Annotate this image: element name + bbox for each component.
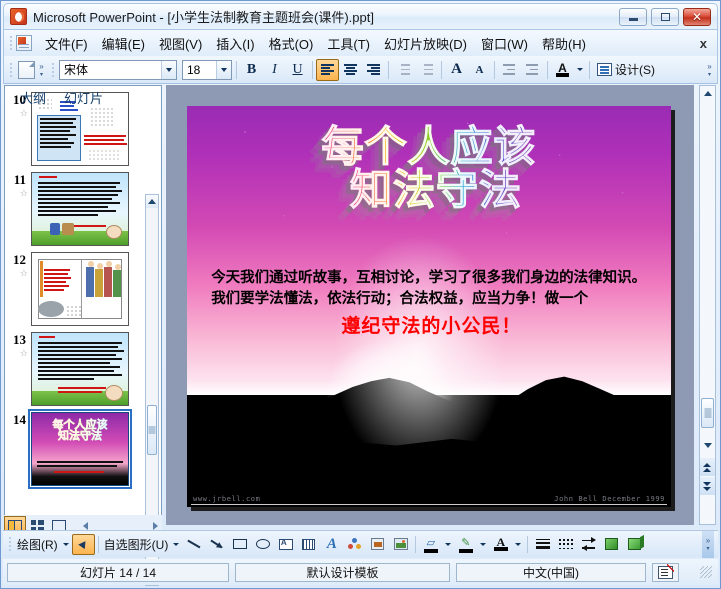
dash-style-button[interactable] xyxy=(554,534,577,555)
align-left-icon xyxy=(321,64,334,75)
restore-button[interactable] xyxy=(651,8,679,26)
restore-icon xyxy=(661,13,670,21)
chevron-up-icon xyxy=(148,199,156,204)
slide-thumbnail-list[interactable]: 10 ☆ 11 ☆ xyxy=(5,86,145,504)
diagram-button[interactable] xyxy=(343,534,366,555)
menu-grip-handle[interactable] xyxy=(9,35,13,51)
design-icon xyxy=(597,63,612,76)
close-document-button[interactable]: x xyxy=(700,36,707,51)
menu-item-window[interactable]: 窗口(W) xyxy=(474,31,535,56)
align-center-button[interactable] xyxy=(339,59,362,81)
window-resize-grip[interactable] xyxy=(700,566,712,578)
arrow-style-button[interactable] xyxy=(577,534,600,555)
bulleted-list-icon xyxy=(420,64,433,75)
vertical-text-box-icon xyxy=(302,539,315,550)
insert-picture-button[interactable] xyxy=(389,534,412,555)
font-size-combo[interactable]: 18 xyxy=(182,60,232,80)
font-color-icon: A xyxy=(556,63,569,77)
tab-slides-label: 幻灯片 xyxy=(64,88,103,107)
decrease-font-size-button[interactable]: A xyxy=(468,59,491,81)
window-title: Microsoft PowerPoint - [小学生法制教育主题班会(课件).… xyxy=(33,7,374,26)
dash-style-icon xyxy=(559,539,573,549)
slide-canvas[interactable]: 每个人应该 知法守法 今天我们通过听故事，互相讨论，学习了很多我们身边的法律知识… xyxy=(187,106,671,507)
line-icon xyxy=(187,540,200,548)
shadow-style-button[interactable] xyxy=(600,534,623,555)
font-name-value: 宋体 xyxy=(60,61,92,78)
fill-color-arrow[interactable] xyxy=(442,534,454,555)
slide-number: 12 xyxy=(9,252,31,268)
line-tool-button[interactable] xyxy=(182,534,205,555)
close-button[interactable]: ✕ xyxy=(683,8,711,26)
scroll-up-button[interactable] xyxy=(146,195,158,208)
underline-icon: U xyxy=(292,62,302,78)
shadow-style-icon xyxy=(605,538,618,550)
menu-item-edit[interactable]: 编辑(E) xyxy=(95,31,152,56)
toolbar-grip-handle-1[interactable] xyxy=(9,62,13,78)
slide-number: 13 xyxy=(9,332,31,348)
italic-icon: I xyxy=(272,62,277,78)
font-size-value: 18 xyxy=(183,63,204,77)
arrow-tool-button[interactable] xyxy=(205,534,228,555)
insert-picture-icon xyxy=(394,538,408,550)
line-style-icon xyxy=(536,539,550,549)
align-center-icon xyxy=(344,64,357,75)
list-item[interactable]: 13 ☆ xyxy=(5,326,145,406)
menu-item-file[interactable]: 文件(F) xyxy=(38,31,95,56)
increase-font-size-button[interactable]: A xyxy=(445,59,468,81)
arrow-icon xyxy=(211,540,223,548)
line-color-arrow[interactable] xyxy=(477,534,489,555)
double-chevron-down-icon xyxy=(703,482,712,491)
decrease-indent-button[interactable] xyxy=(498,59,521,81)
font-color-icon: A xyxy=(494,537,508,551)
italic-button[interactable]: I xyxy=(263,59,286,81)
powerpoint-window: Microsoft PowerPoint - [小学生法制教育主题班会(课件).… xyxy=(0,0,721,589)
scrollbar-thumb-main[interactable] xyxy=(701,398,714,428)
slide-animation-star: ☆ xyxy=(9,188,31,199)
list-item[interactable]: 11 ☆ xyxy=(5,166,145,246)
fill-color-icon: ▱ xyxy=(424,536,438,553)
watermark-right: John Bell December 1999 xyxy=(554,495,665,503)
document-icon xyxy=(16,35,32,51)
rectangle-tool-button[interactable] xyxy=(228,534,251,555)
toolbar-overflow-chevron-1[interactable]: »▾ xyxy=(37,61,46,79)
increase-indent-icon xyxy=(526,64,539,75)
window-controls: ✕ xyxy=(619,8,711,26)
design-button[interactable]: 设计(S) xyxy=(593,59,659,80)
tab-outline-label: 大纲 xyxy=(20,88,46,107)
clip-art-icon xyxy=(371,538,384,550)
align-right-button[interactable] xyxy=(362,59,385,81)
language-field[interactable]: 中文(中国) xyxy=(456,563,646,582)
powerpoint-icon[interactable] xyxy=(10,8,27,25)
slide-number: 11 xyxy=(9,172,31,188)
rectangle-icon xyxy=(233,539,247,549)
slide-number: 14 xyxy=(9,412,31,428)
bulleted-list-button[interactable] xyxy=(415,59,438,81)
line-color-button[interactable]: ✎ xyxy=(454,534,477,555)
increase-font-size-icon: A xyxy=(451,61,462,78)
new-document-icon[interactable] xyxy=(18,61,35,79)
menu-item-help[interactable]: 帮助(H) xyxy=(535,31,593,56)
menu-item-tools[interactable]: 工具(T) xyxy=(320,31,377,56)
font-name-dropdown-arrow[interactable] xyxy=(161,61,176,79)
chevron-up-icon xyxy=(704,91,712,96)
spell-check-icon xyxy=(658,566,673,579)
double-chevron-up-icon xyxy=(703,463,712,472)
close-icon: ✕ xyxy=(692,11,702,23)
title-bar: Microsoft PowerPoint - [小学生法制教育主题班会(课件).… xyxy=(3,3,718,30)
numbered-list-button[interactable] xyxy=(392,59,415,81)
slide-animation-star: ☆ xyxy=(9,268,31,279)
3d-style-button[interactable] xyxy=(623,534,646,555)
vertical-text-box-button[interactable] xyxy=(297,534,320,555)
bold-button[interactable]: B xyxy=(240,59,263,81)
autoshapes-menu-button[interactable]: 自选图形(U) xyxy=(102,536,171,553)
slide-animation-star: ☆ xyxy=(9,108,31,119)
slides-pane: 10 ☆ 11 ☆ xyxy=(4,85,162,527)
font-size-dropdown-arrow[interactable] xyxy=(216,61,231,79)
drawing-toolbar: 绘图(R) 自选图形(U) A ▱ ✎ xyxy=(3,530,718,557)
slide-vertical-scrollbar[interactable] xyxy=(699,85,716,525)
drawing-toolbar-grip[interactable] xyxy=(8,536,12,552)
align-left-button[interactable] xyxy=(316,59,339,81)
chevron-down-icon xyxy=(704,443,712,448)
design-template-field[interactable]: 默认设计模板 xyxy=(235,563,450,582)
font-color-arrow[interactable] xyxy=(512,534,524,555)
body-highlight-line: 遵纪守法的小公民！ xyxy=(211,313,651,340)
line-color-icon: ✎ xyxy=(459,536,473,553)
menu-item-slideshow[interactable]: 幻灯片放映(D) xyxy=(377,31,474,56)
font-color-dropdown-arrow[interactable] xyxy=(574,59,586,81)
slide-body-textbox[interactable]: 今天我们通过听故事，互相讨论，学习了很多我们身边的法律知识。我们要学法懂法，依法… xyxy=(211,268,651,339)
decrease-font-size-icon: A xyxy=(476,64,484,76)
list-item[interactable]: 14 每个人应该知法守法 xyxy=(5,406,145,486)
status-bar: 幻灯片 14 / 14 默认设计模板 中文(中国) xyxy=(3,559,718,585)
foreground-ridge xyxy=(187,419,671,507)
numbered-list-icon xyxy=(397,64,410,75)
drawing-toolbar-overflow[interactable]: »▾ xyxy=(702,531,714,558)
scrollbar-thumb[interactable] xyxy=(147,405,157,455)
slide-thumbnail[interactable] xyxy=(31,172,129,246)
select-arrow-icon xyxy=(78,539,89,549)
toolbar-overflow-chevron-2[interactable]: »▾ xyxy=(705,61,714,79)
menu-item-view[interactable]: 视图(V) xyxy=(152,31,209,56)
slide-counter-field: 幻灯片 14 / 14 xyxy=(7,563,229,582)
fill-color-button[interactable]: ▱ xyxy=(419,534,442,555)
design-button-label: 设计(S) xyxy=(615,61,655,78)
autoshapes-menu-arrow[interactable] xyxy=(170,534,182,555)
menu-bar: 文件(F) 编辑(E) 视图(V) 插入(I) 格式(O) 工具(T) 幻灯片放… xyxy=(3,30,718,56)
previous-slide-button[interactable] xyxy=(700,458,715,476)
draw-menu-arrow[interactable] xyxy=(60,534,72,555)
slide-animation-star: ☆ xyxy=(9,348,31,359)
decrease-indent-icon xyxy=(503,64,516,75)
minimize-icon xyxy=(629,18,638,21)
select-objects-button[interactable] xyxy=(72,534,95,555)
minimize-button[interactable] xyxy=(619,8,647,26)
slide-workspace[interactable]: 每个人应该 知法守法 今天我们通过听故事，互相讨论，学习了很多我们身边的法律知识… xyxy=(166,85,694,525)
menu-item-insert[interactable]: 插入(I) xyxy=(209,31,261,56)
menu-item-format[interactable]: 格式(O) xyxy=(262,31,321,56)
clip-art-button[interactable] xyxy=(366,534,389,555)
text-box-button[interactable] xyxy=(274,534,297,555)
scroll-up-button-main[interactable] xyxy=(700,86,715,101)
formatting-toolbar: »▾ 宋体 18 B I U A A xyxy=(3,56,718,84)
font-name-combo[interactable]: 宋体 xyxy=(59,60,177,80)
toolbar-grip-handle-2[interactable] xyxy=(51,62,55,78)
oval-icon xyxy=(256,539,270,549)
font-color-button[interactable]: A xyxy=(551,59,574,81)
spell-check-field[interactable] xyxy=(652,563,679,582)
wordart-icon: A xyxy=(327,536,337,553)
chevron-left-icon xyxy=(83,522,88,530)
underline-button[interactable]: U xyxy=(286,59,309,81)
increase-indent-button[interactable] xyxy=(521,59,544,81)
oval-tool-button[interactable] xyxy=(251,534,274,555)
font-color-button-draw[interactable]: A xyxy=(489,534,512,555)
slide-thumbnail-selected[interactable]: 每个人应该知法守法 xyxy=(31,412,129,486)
scroll-down-button-main[interactable] xyxy=(700,438,715,453)
watermark-left: www.jrbell.com xyxy=(193,495,260,503)
text-box-icon xyxy=(279,539,293,550)
next-slide-button[interactable] xyxy=(700,477,715,495)
wordart-button[interactable]: A xyxy=(320,534,343,555)
slide-thumbnail[interactable] xyxy=(31,332,129,406)
slide-thumbnail[interactable] xyxy=(31,252,129,326)
diagram-icon xyxy=(348,538,361,550)
3d-style-icon xyxy=(628,538,641,550)
chevron-right-icon xyxy=(153,522,158,530)
draw-menu-button[interactable]: 绘图(R) xyxy=(15,536,60,553)
arrow-style-icon xyxy=(582,539,596,550)
align-right-icon xyxy=(367,64,380,75)
bold-icon: B xyxy=(247,62,256,78)
footer-rule xyxy=(191,504,667,505)
body-paragraph: 今天我们通过听故事，互相讨论，学习了很多我们身边的法律知识。我们要学法懂法，依法… xyxy=(211,270,646,307)
list-item[interactable]: 12 ☆ xyxy=(5,246,145,326)
line-style-button[interactable] xyxy=(531,534,554,555)
